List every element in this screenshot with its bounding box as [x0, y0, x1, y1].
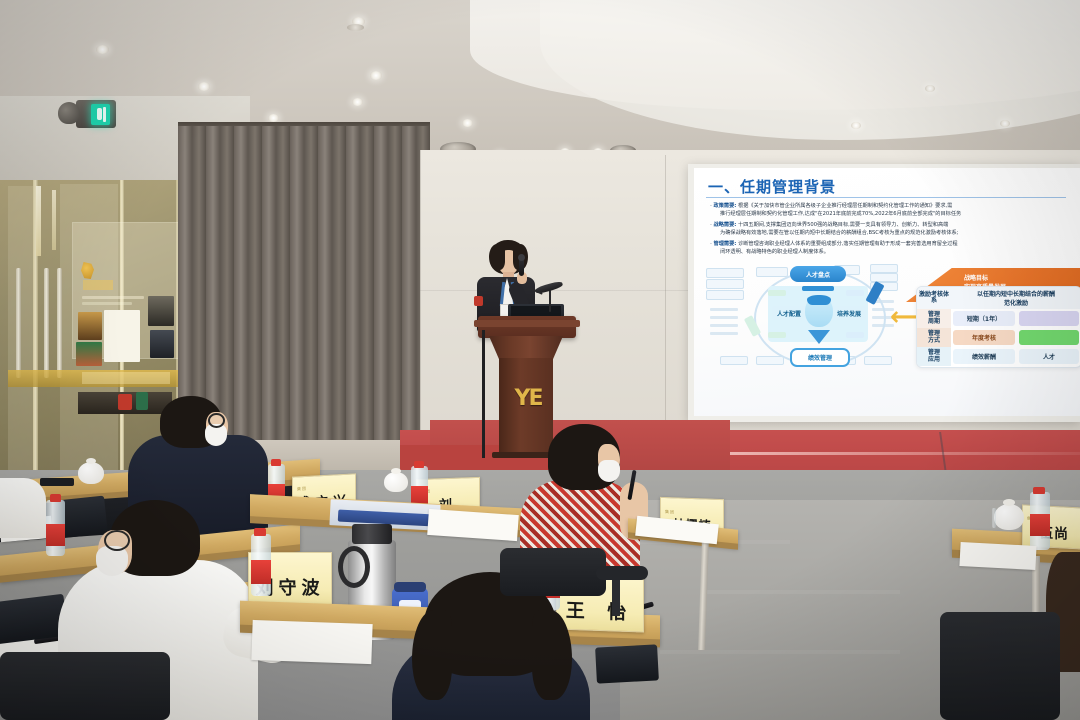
table-header-text: 以任期内短中长期结合的薪酬 范化激励	[951, 287, 1080, 309]
attendee-left-white	[0, 478, 46, 538]
attendee-hair-side	[412, 610, 452, 700]
glass-panel	[8, 186, 34, 476]
table-row: 管理 方式 年度考核	[917, 328, 1080, 347]
bottle-label	[1030, 514, 1050, 536]
conference-room-photo: 一、任期管理背景 - 政策需要: 根据《关于加快市管企业所属各级子企业推行经理层…	[0, 0, 1080, 720]
diagram-ghost-line	[710, 308, 738, 311]
row-label-line-2: 方式	[928, 338, 940, 344]
nameplate-name: 王 怡	[566, 596, 635, 625]
table-cell: 绩效薪酬	[953, 349, 1015, 364]
desk-device	[40, 478, 74, 486]
bullet-item: - 管理需要: 诊断管理咨询职业经理人体系的重要组成部分,落实任期管理有助于形成…	[710, 240, 1078, 256]
table-header-label: 激励考核体系	[917, 287, 951, 309]
row-label-line-2: 周期	[928, 319, 940, 325]
chair-arm	[596, 566, 648, 580]
door-handle[interactable]	[57, 268, 62, 378]
chair-back	[940, 612, 1060, 720]
bottle-cap	[271, 459, 281, 466]
thermos-handle[interactable]	[338, 546, 370, 588]
bottle-cap	[254, 528, 266, 536]
teapot-lid	[1003, 499, 1015, 506]
bullet-key: 政策需要:	[714, 203, 737, 209]
teapot-lid	[391, 468, 401, 474]
bottle-label	[251, 560, 271, 584]
cycle-node-bottom: 绩效管理	[790, 348, 850, 367]
bullet-dash-icon: -	[710, 241, 712, 247]
board-chart	[104, 310, 140, 362]
table-row-label: 管理 应用	[917, 347, 951, 366]
paper-sheet	[251, 620, 372, 664]
talent-cycle-diagram: 人才盘点 人才配置 培养发展 绩效管理	[746, 264, 892, 368]
board-text-line	[82, 296, 144, 299]
cycle-chip	[768, 290, 786, 296]
bullet-text: 诊断管理咨询职业经理人体系的重要组成部分,落实任期管理有助于形成一套完善选用育留…	[738, 241, 958, 247]
bullet-key: 管理需要:	[714, 241, 737, 247]
bottle-partial	[992, 508, 996, 528]
teapot	[384, 472, 408, 492]
cycle-node-right: 培养发展	[832, 306, 866, 320]
bullet-key: 战略需要:	[714, 222, 737, 228]
downlight-icon	[96, 45, 109, 54]
downlight-icon	[851, 122, 861, 129]
slide-title: 一、任期管理背景	[708, 176, 836, 197]
row-label-line-2: 应用	[928, 357, 940, 363]
bottle-cap	[50, 494, 61, 502]
diagram-ghost-box	[706, 268, 744, 278]
downlight-icon	[370, 71, 382, 80]
accent-light	[36, 186, 41, 256]
bullet-text: 根据《关于加快市管企业所属各级子企业推行经理层任期制和契约化管理工作的通知》要求…	[738, 203, 952, 209]
downlight-icon	[352, 98, 363, 106]
diagram-ghost-line	[710, 316, 738, 319]
bullet-dash-icon: -	[710, 222, 712, 228]
emergency-light-icon	[58, 102, 80, 124]
table-cell-blank	[1019, 311, 1079, 326]
door-handle[interactable]	[16, 268, 21, 378]
tablet[interactable]	[595, 644, 659, 683]
bullet-item: - 战略需要: 十四五期间,支撑集团迈向世界500强的战略目标,需要一支具有领导…	[710, 221, 1078, 237]
incentive-table: 激励考核体系 以任期内短中长期结合的薪酬 范化激励 管理 周期 短期（1年） 管…	[916, 286, 1080, 368]
downlight-icon	[1000, 120, 1010, 127]
cycle-chip	[846, 290, 864, 296]
teapot	[994, 504, 1024, 530]
face-mask	[96, 546, 128, 576]
diagram-ghost-box	[706, 290, 744, 300]
table-cell-blank	[1019, 330, 1079, 345]
table-cell: 年度考核	[953, 330, 1015, 345]
table-row: 管理 应用 绩效薪酬 人才	[917, 347, 1080, 366]
podium-lip	[474, 320, 580, 327]
mug-lid	[394, 582, 426, 592]
cycle-bar	[802, 286, 834, 291]
glasses-icon	[208, 413, 225, 428]
table-header-row: 激励考核体系 以任期内短中长期结合的薪酬 范化激励	[917, 287, 1080, 309]
chair-post	[612, 580, 620, 616]
downlight-icon	[198, 82, 210, 91]
paper-sheet	[959, 542, 1036, 570]
brand-wordmark	[83, 280, 113, 290]
bullet-item: - 政策需要: 根据《关于加快市管企业所属各级子企业推行经理层任期制和契约化管理…	[710, 202, 1078, 218]
bullet-text: 十四五期间,支撑集团迈向世界500强的战略目标,需要一支具有领导力、创新力、转型…	[738, 222, 948, 228]
table-cell: 短期（1年）	[953, 311, 1015, 326]
door-handle[interactable]	[44, 268, 49, 378]
board-photo	[78, 312, 102, 340]
table-cell: 人才	[1019, 349, 1079, 364]
wall-seam	[665, 155, 666, 455]
shelf-item	[118, 394, 132, 410]
cycle-center-cap	[807, 295, 831, 305]
table-header-line-1: 以任期内短中长期结合的薪酬	[977, 289, 1055, 298]
table-header-line-2: 范化激励	[1004, 298, 1028, 307]
downlight-icon	[462, 119, 473, 127]
teapot	[78, 462, 104, 484]
smoke-detector-icon	[347, 24, 364, 31]
microphone-head	[518, 254, 525, 261]
teapot-lid	[86, 458, 96, 464]
chair-back	[0, 652, 170, 720]
exit-figure-icon	[97, 108, 102, 120]
diagram-ghost-line	[710, 332, 738, 335]
bottle-cap	[414, 461, 424, 468]
chair-back	[500, 548, 606, 596]
presenter-hair-side	[489, 244, 505, 270]
bullet-text: 为确保战略有效落地,需要在管以任期内短中长期结合的薪酬组合,BSC考核为重点的规…	[710, 229, 1078, 237]
board-photo	[76, 342, 102, 366]
floor-tile-line	[660, 650, 900, 654]
board-photo	[150, 330, 174, 358]
cycle-node-top: 人才盘点	[790, 266, 846, 282]
cycle-chip	[846, 332, 864, 338]
table-row-label: 管理 方式	[917, 328, 951, 347]
shelf-item	[136, 392, 148, 410]
diagram-ghost-line	[710, 324, 738, 327]
board-photo	[148, 296, 174, 326]
downlight-icon	[268, 114, 279, 122]
board-text-line	[82, 302, 132, 305]
presenter-pocket-item	[474, 296, 483, 306]
accent-light	[52, 190, 56, 250]
exit-sign	[91, 104, 110, 125]
bottle-label	[46, 524, 65, 546]
floor-tile-line	[700, 590, 900, 594]
band-text	[82, 372, 170, 384]
bullet-text: 闭环透明、有战略特色的职业经理人制度体系。	[710, 248, 1078, 256]
exit-door-icon	[103, 107, 106, 122]
wall-seam	[420, 150, 421, 470]
projection-screen: 一、任期管理背景 - 政策需要: 根据《关于加快市管企业所属各级子企业推行经理层…	[694, 168, 1080, 416]
mic-stand-pole	[482, 330, 485, 458]
table-row-label: 管理 周期	[917, 309, 951, 328]
cycle-chip	[768, 332, 786, 338]
diagram-ghost-box	[720, 356, 748, 365]
face-mask	[598, 460, 620, 482]
bullet-text: 推行经理层任期制和契约化管理工作,达成"在2021年底前完成70%,2022年6…	[710, 210, 1078, 218]
bullet-dash-icon: -	[710, 203, 712, 209]
thermos-lid	[352, 524, 392, 544]
diagram-ghost-box	[706, 279, 744, 289]
podium-neck	[489, 336, 563, 360]
title-divider	[706, 197, 1066, 198]
glasses-icon	[104, 530, 130, 551]
mic-stand-stem	[549, 290, 551, 312]
table-row: 管理 周期 短期（1年）	[917, 309, 1080, 328]
cycle-node-left: 人才配置	[772, 306, 806, 320]
downlight-icon	[925, 85, 935, 92]
bottle-cap	[1033, 487, 1045, 494]
cycle-arrow-down-icon	[808, 330, 830, 344]
podium-logo: YE	[513, 386, 543, 411]
banner-line-1: 战略目标	[964, 274, 1080, 283]
